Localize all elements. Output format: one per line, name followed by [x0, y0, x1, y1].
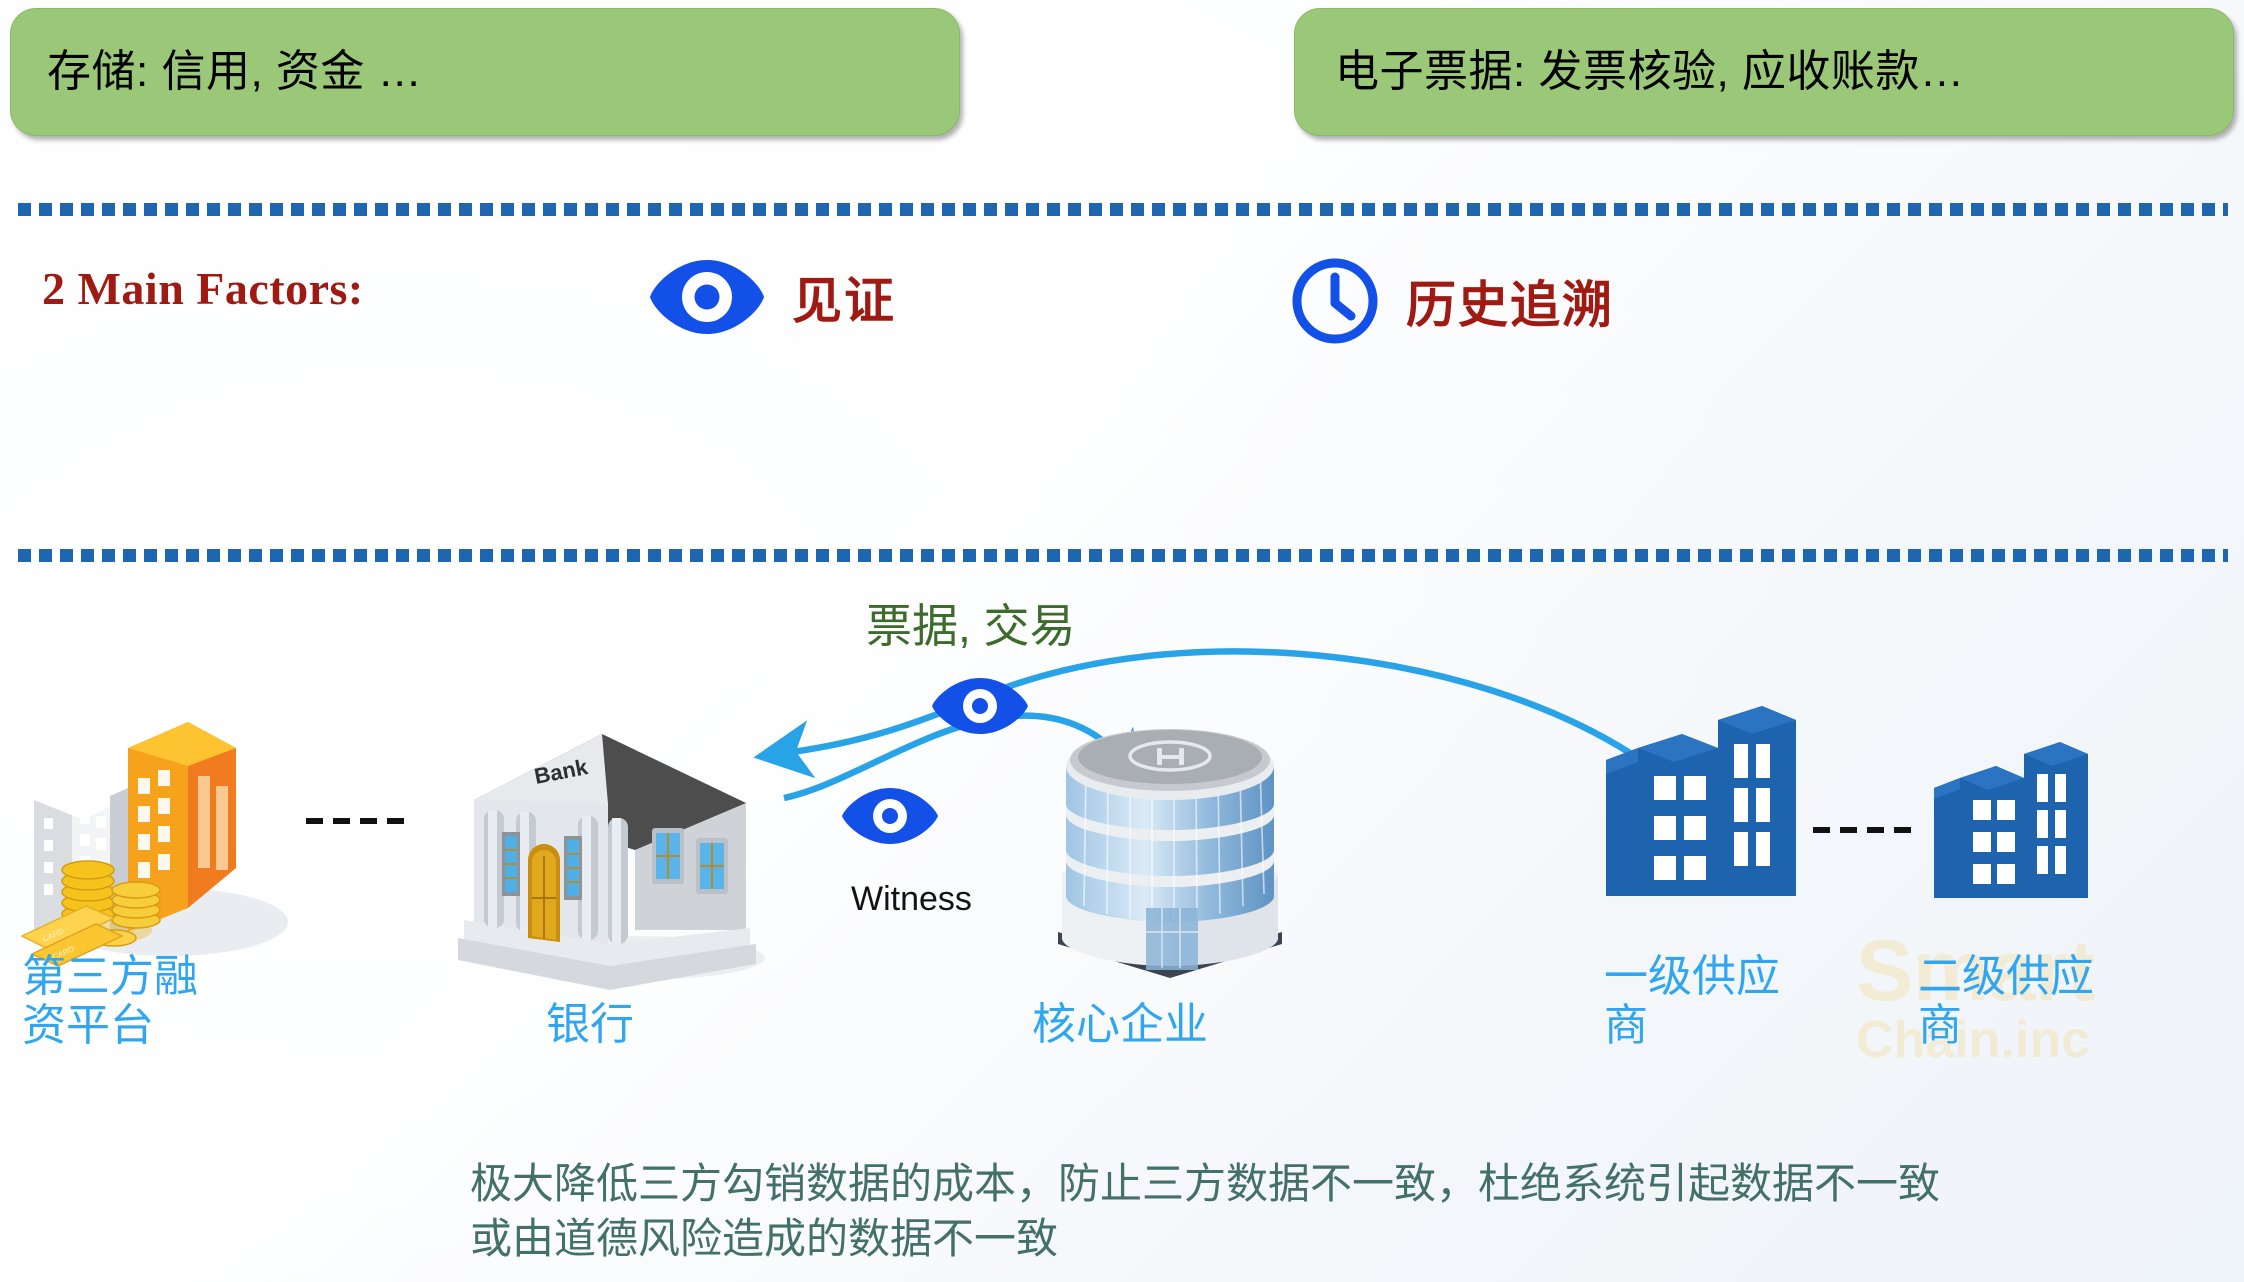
- factor-history-text: 历史追溯: [1406, 265, 1614, 337]
- supplier-building-icon-1: [1600, 700, 1810, 910]
- banner-storage: 存储: 信用, 资金 …: [10, 8, 960, 136]
- dashed-connector-supplier1-supplier2: [1813, 827, 1921, 833]
- factor-witness-text: 见证: [792, 261, 896, 333]
- clock-icon: [1290, 256, 1380, 346]
- banner-storage-text: 存储: 信用, 资金 …: [47, 47, 422, 98]
- slide-canvas: 存储: 信用, 资金 … 电子票据: 发票核验, 应收账款… 2 Main Fa…: [0, 0, 2244, 1282]
- main-factors-heading: 2 Main Factors:: [42, 262, 364, 315]
- factor-witness: 见证: [648, 258, 896, 336]
- supplier-building-icon-2: [1930, 738, 2098, 910]
- bottom-caption: 极大降低三方勾销数据的成本，防止三方数据不一致，杜绝系统引起数据不一致 或由道德…: [470, 1156, 2240, 1267]
- core-enterprise-icon: [1040, 700, 1300, 990]
- bank-icon: Bank: [450, 700, 780, 990]
- node-label-supplier-tier1: 一级供应 商: [1604, 952, 1854, 1051]
- divider-top: [18, 203, 2228, 216]
- factor-history-trace: 历史追溯: [1290, 256, 1614, 346]
- witness-label: Witness: [851, 880, 972, 919]
- banner-electronic-invoice: 电子票据: 发票核验, 应收账款…: [1294, 8, 2234, 136]
- banner-electronic-invoice-text: 电子票据: 发票核验, 应收账款…: [1335, 47, 1964, 98]
- financing-platform-icon: CARD CARD: [10, 700, 290, 970]
- eye-icon-lower: [842, 788, 938, 844]
- node-label-supplier-tier2: 二级供应 商: [1918, 952, 2168, 1051]
- flow-label-bills-transactions: 票据, 交易: [866, 590, 1076, 656]
- node-label-bank: 银行: [546, 1000, 806, 1049]
- node-label-platform: 第三方融 资平台: [22, 952, 282, 1051]
- eye-icon: [648, 258, 766, 336]
- node-label-core-enterprise: 核心企业: [1032, 1000, 1332, 1049]
- dashed-connector-platform-bank: [306, 818, 414, 824]
